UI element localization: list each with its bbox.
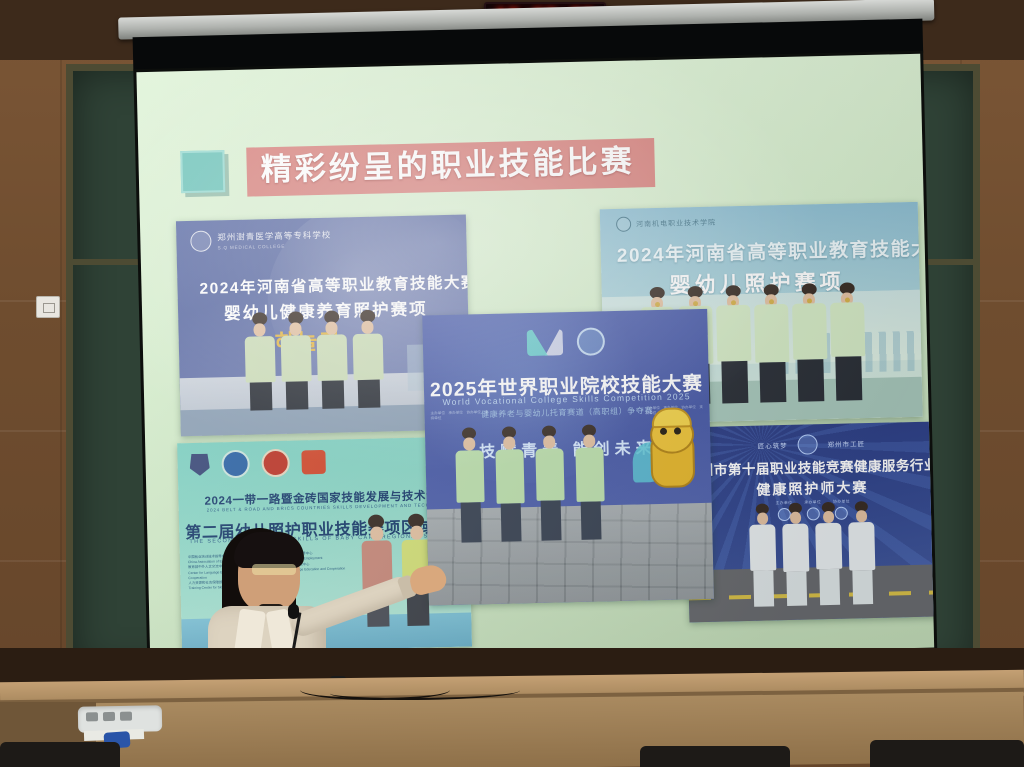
competition-seal-icon xyxy=(576,327,605,356)
photo3-side-left: 主办单位 承办单位 协办单位 支持单位 xyxy=(430,410,488,421)
sponsor-mark-icon xyxy=(301,450,326,475)
person xyxy=(754,284,791,403)
front-row-seat xyxy=(640,746,790,767)
competition-mark-icon xyxy=(526,329,563,356)
slide-title-row: 精彩纷呈的职业技能比赛 xyxy=(180,138,655,198)
person xyxy=(535,425,566,541)
person xyxy=(575,424,606,540)
logo-emblem-icon xyxy=(616,217,631,232)
person xyxy=(352,309,384,408)
front-row-seat xyxy=(870,740,1024,767)
lecture-hall-scene: 17:57:56 2025年 10月 16日 星期四 精彩纷呈的职业技能比赛 xyxy=(0,0,1024,767)
page-title: 精彩纷呈的职业技能比赛 xyxy=(260,143,635,187)
person xyxy=(716,285,753,404)
sponsor-shield-icon xyxy=(189,454,210,476)
fringe xyxy=(234,532,304,568)
mascot-icon xyxy=(633,407,707,505)
person xyxy=(749,503,777,607)
photo5-header-left: 匠心筑梦 xyxy=(758,440,788,451)
person xyxy=(782,502,810,606)
person xyxy=(455,427,486,543)
sponsor-seal-icon xyxy=(261,449,290,478)
photo1-people-row xyxy=(244,309,384,410)
pointing-hand xyxy=(407,562,448,597)
glasses xyxy=(252,564,296,575)
photo5-header-right: 郑州市工匠 xyxy=(827,438,865,449)
power-outlet xyxy=(36,296,60,318)
photo3-people-row xyxy=(455,424,606,542)
photo-center: 2025年世界职业院校技能大赛 World Vocational College… xyxy=(422,309,714,606)
microphone-icon xyxy=(288,604,299,619)
person xyxy=(280,311,312,410)
person xyxy=(316,310,348,409)
photo5-people-row xyxy=(749,501,876,607)
cable-tray-slots xyxy=(86,712,132,722)
logo-text-cn: 郑州澍青医学高等专科学校 xyxy=(217,229,331,244)
person xyxy=(792,283,829,402)
photo2-logo: 河南机电职业技术学院 xyxy=(616,215,716,232)
slide-title-banner: 精彩纷呈的职业技能比赛 xyxy=(246,138,655,197)
front-row-seat xyxy=(0,742,120,767)
person xyxy=(815,502,843,606)
person xyxy=(848,501,876,605)
person xyxy=(830,282,867,401)
photo4-logo-row xyxy=(189,448,326,479)
photo5-logo-row: 匠心筑梦 郑州市工匠 xyxy=(757,433,865,456)
college-logo: 郑州澍青医学高等专科学校 S.Q MEDICAL COLLEGE xyxy=(190,228,331,252)
city-seal-icon xyxy=(797,434,817,454)
competition-emblem xyxy=(526,327,605,357)
sponsor-globe-icon xyxy=(221,450,250,479)
person xyxy=(244,312,276,411)
photo2-logo-text: 河南机电职业技术学院 xyxy=(636,217,716,229)
person xyxy=(495,426,526,542)
title-accent-square-icon xyxy=(180,150,225,193)
photo5-line2: 健康照护师大赛 xyxy=(756,477,868,500)
logo-emblem-icon xyxy=(190,230,211,251)
photo-bottom-right: 匠心筑梦 郑州市工匠 郑州市第十届职业技能竞赛健康服务行业 健康照护师大赛 主办… xyxy=(685,421,934,622)
